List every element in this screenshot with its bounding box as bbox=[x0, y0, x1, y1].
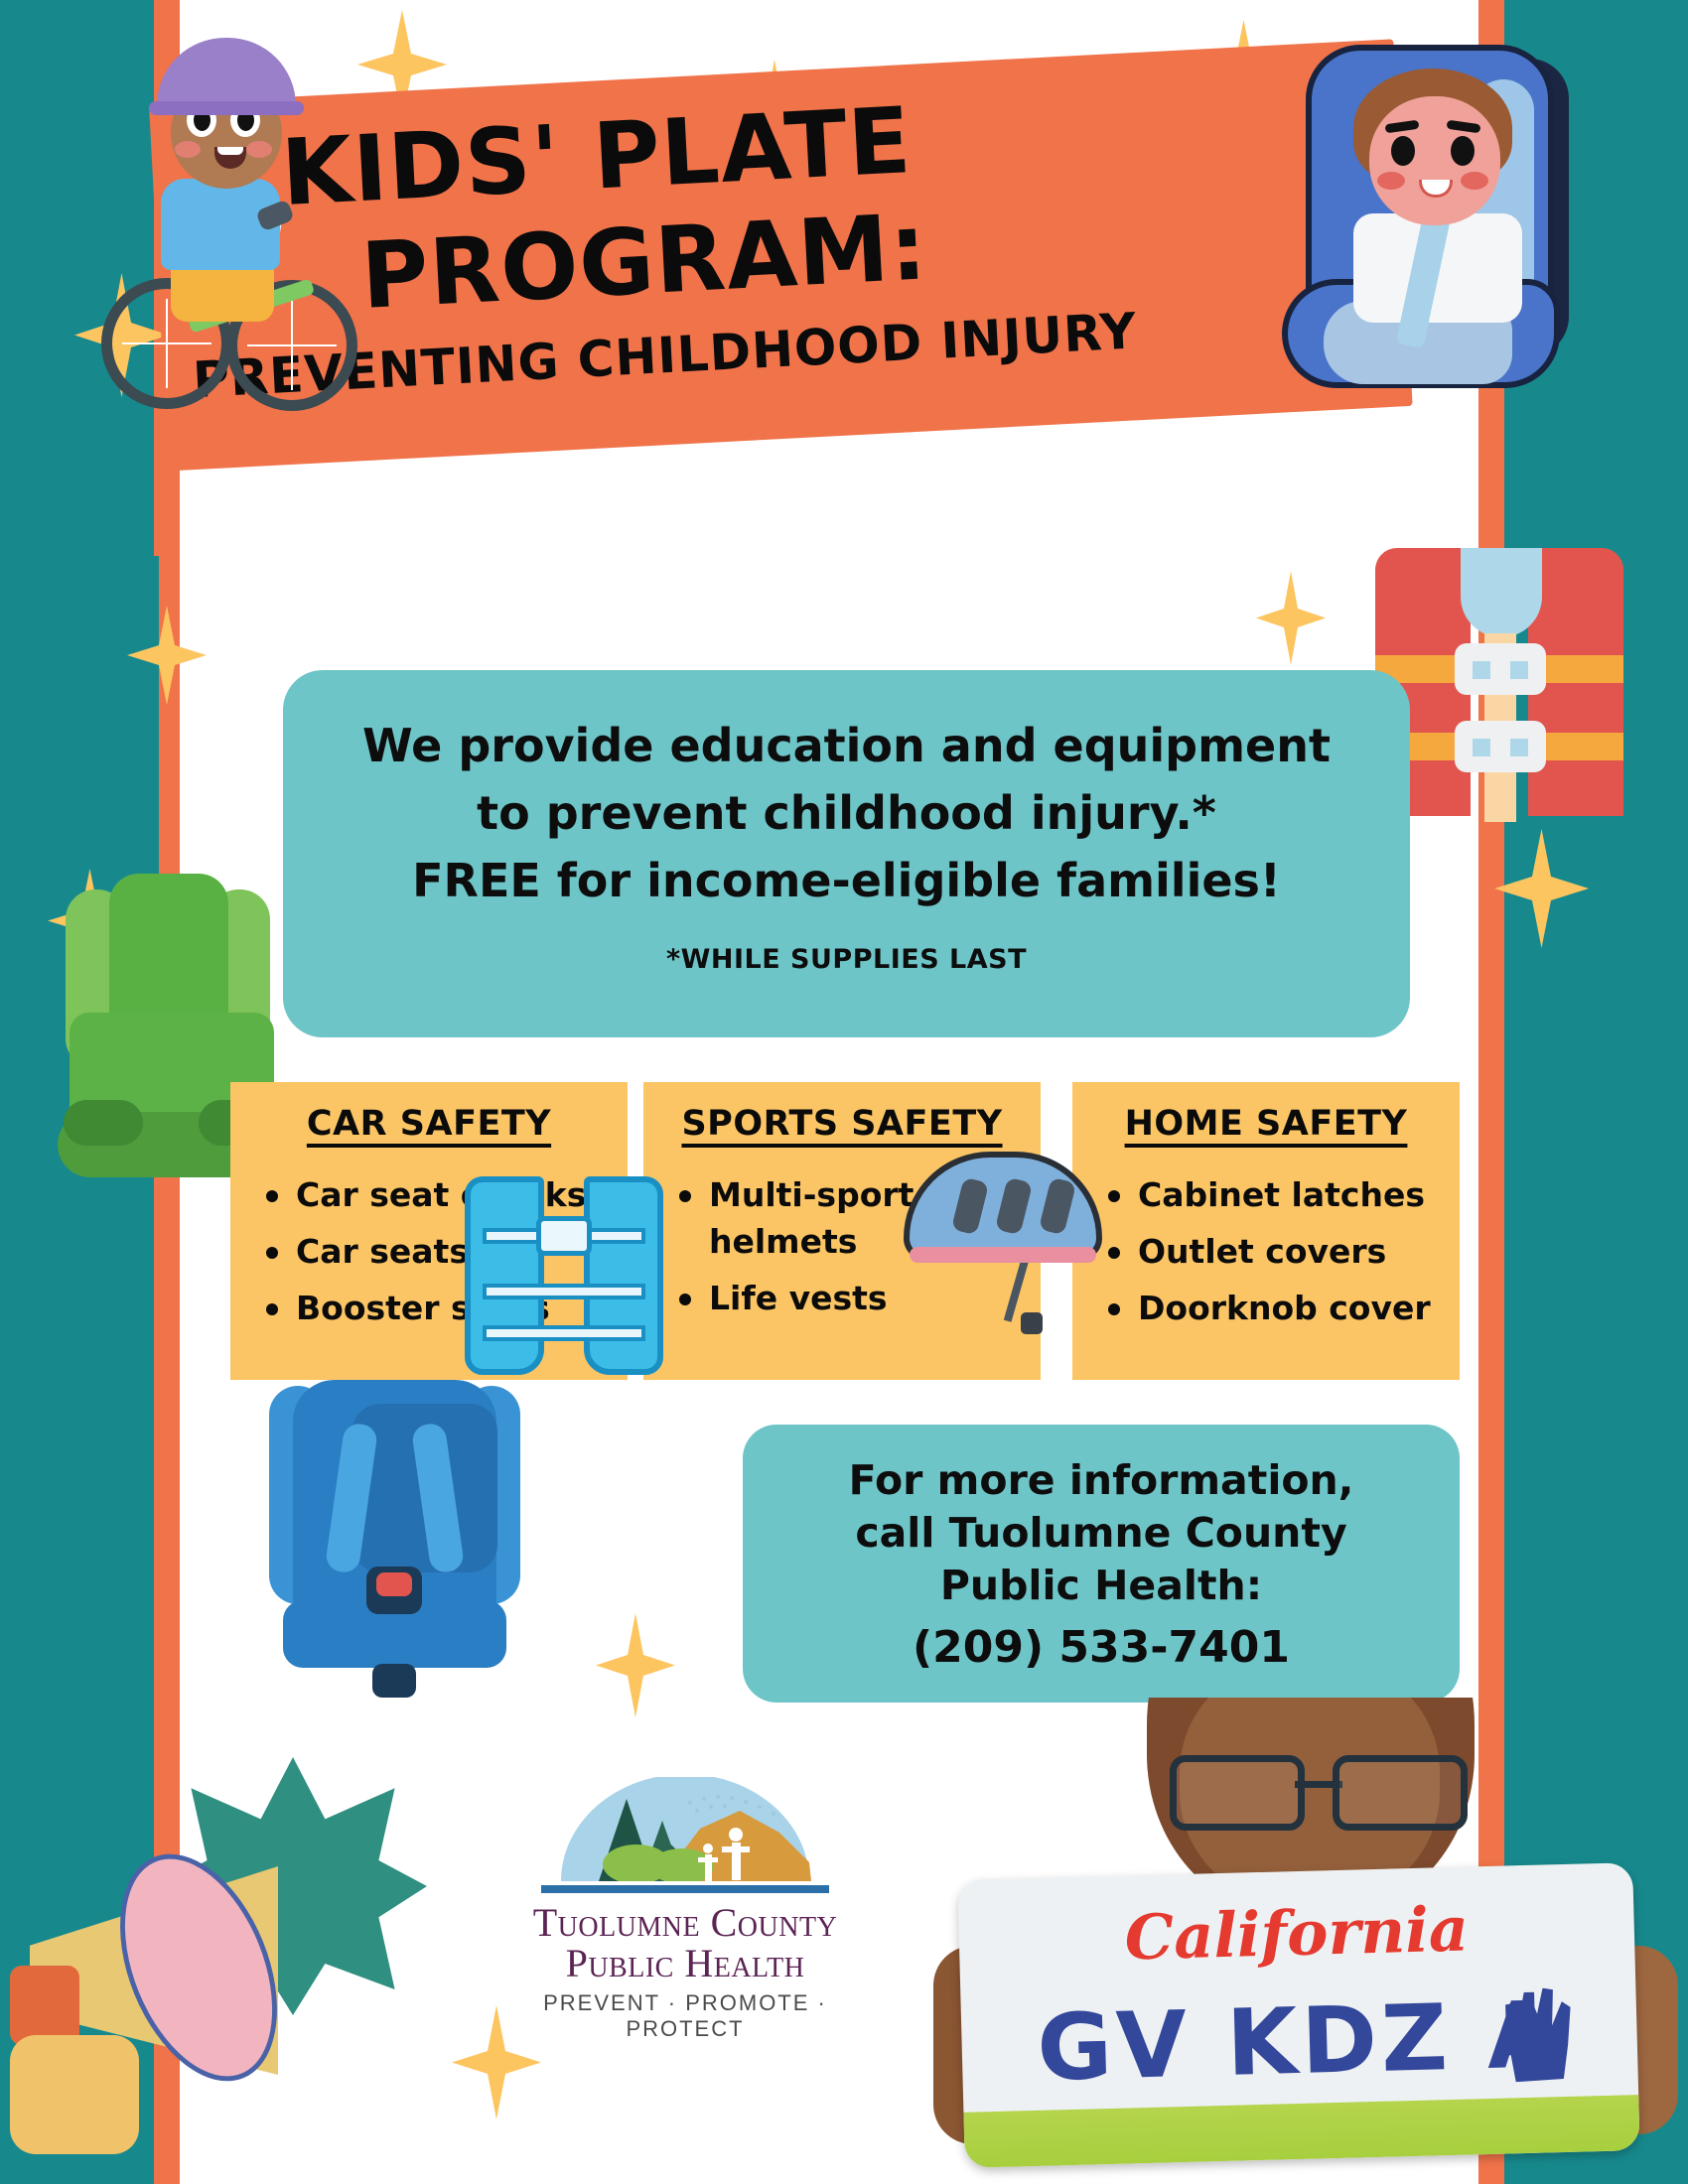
bicycle-helmet-icon bbox=[904, 1152, 1122, 1340]
contact-line-1: For more information, bbox=[849, 1454, 1354, 1507]
child-face bbox=[1369, 96, 1500, 225]
list-item: Outlet covers bbox=[1138, 1228, 1450, 1275]
category-title: HOME SAFETY bbox=[1082, 1104, 1450, 1144]
page-title-line2: PROGRAM: bbox=[359, 202, 929, 323]
list-item: Multi-sport helmets bbox=[709, 1171, 922, 1265]
logo-name-line-2: Public Health bbox=[496, 1943, 874, 1984]
contact-line-3: Public Health: bbox=[940, 1560, 1262, 1612]
message-line-1: We provide education and equipment bbox=[362, 712, 1331, 779]
red-life-vest-icon bbox=[1375, 526, 1623, 824]
list-item: Cabinet latches bbox=[1138, 1171, 1450, 1218]
program-message-box: We provide education and equipment to pr… bbox=[283, 670, 1410, 1037]
poster-root: KIDS' PLATE PROGRAM: PREVENTING CHILDHOO… bbox=[0, 0, 1688, 2184]
list-item: Doorknob cover bbox=[1138, 1285, 1450, 1331]
category-title: SPORTS SAFETY bbox=[653, 1104, 1031, 1144]
plate-state-name: California bbox=[958, 1888, 1635, 1979]
category-card-home-safety: HOME SAFETY Cabinet latches Outlet cover… bbox=[1072, 1082, 1460, 1380]
message-line-3: FREE for income-eligible families! bbox=[412, 847, 1281, 914]
tuolumne-county-public-health-logo: Tuolumne County Public Health PREVENT · … bbox=[496, 1777, 874, 2015]
contact-information-box: For more information, call Tuolumne Coun… bbox=[743, 1425, 1460, 1703]
eyeglasses-icon bbox=[1170, 1755, 1468, 1819]
category-list: Cabinet latches Outlet covers Doorknob c… bbox=[1082, 1171, 1450, 1331]
logo-divider bbox=[541, 1885, 829, 1893]
category-title: CAR SAFETY bbox=[240, 1104, 618, 1144]
logo-name-line-1: Tuolumne County bbox=[496, 1903, 874, 1943]
message-line-2: to prevent childhood injury.* bbox=[477, 779, 1216, 847]
blue-life-vest-icon bbox=[465, 1176, 663, 1410]
logo-landscape-art bbox=[541, 1777, 829, 1881]
child-on-bicycle-icon bbox=[109, 30, 357, 387]
logo-illustration bbox=[541, 1777, 829, 1881]
blue-car-seat-icon bbox=[263, 1380, 526, 1698]
logo-tagline: PREVENT · PROMOTE · PROTECT bbox=[496, 1990, 874, 2042]
plate-grass-art bbox=[963, 2095, 1639, 2168]
child-in-car-seat-icon bbox=[1246, 25, 1623, 422]
megaphone-icon bbox=[10, 1757, 427, 2184]
bike-helmet-brim bbox=[149, 101, 304, 115]
supplies-footnote: *WHILE SUPPLIES LAST bbox=[666, 944, 1027, 975]
child-holding-license-plate-photo: California GV KDZ A bbox=[933, 1698, 1688, 2184]
california-license-plate: California GV KDZ A bbox=[957, 1862, 1639, 2168]
contact-line-2: call Tuolumne County bbox=[855, 1507, 1346, 1560]
contact-phone-number[interactable]: (209) 533-7401 bbox=[913, 1622, 1290, 1673]
